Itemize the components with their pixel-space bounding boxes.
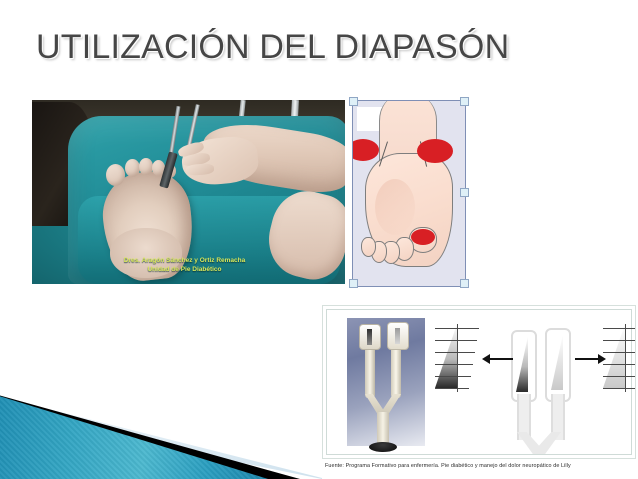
tuning-fork-figure[interactable]	[322, 305, 636, 459]
foot-map-marker-lateral-malleolus	[417, 139, 453, 163]
fork-weight-left	[359, 324, 381, 350]
schematic-prong-left	[511, 330, 537, 402]
slide: UTILIZACIÓN DEL DIAPASÓN Dres. Aragón Sá…	[0, 0, 638, 479]
fork-scale-tick-right	[395, 328, 400, 344]
decoration-pale-band	[0, 381, 322, 479]
callout-right-axis	[625, 324, 626, 392]
callout-right	[601, 320, 636, 396]
photo-credit-line-2: Unidad de Pie Diabético	[32, 266, 337, 275]
callout-left-axis	[457, 324, 458, 392]
fork-base	[369, 442, 397, 452]
photo-credit: Dres. Aragón Sánchez y Ortiz Remacha Uni…	[32, 257, 337, 274]
callout-left-arrow-icon	[489, 358, 513, 360]
callout-left	[433, 320, 485, 396]
selection-handle-bottom-right[interactable]	[460, 279, 469, 288]
photo-toe-1	[106, 164, 125, 186]
tuning-fork-schematic	[433, 314, 627, 450]
foot-map-shading	[375, 179, 415, 235]
fork-scale-tick-left	[367, 329, 372, 345]
photo-toe-2	[125, 159, 140, 177]
foot-map-marker-hallux	[411, 229, 435, 245]
callout-right-rule-3	[603, 352, 636, 353]
callout-right-rule-4	[603, 364, 636, 365]
foot-map-canvas	[353, 101, 465, 286]
callout-right-rule-6	[603, 388, 636, 389]
callout-right-rule-2	[603, 340, 636, 341]
selection-handle-bottom-left[interactable]	[349, 279, 358, 288]
callout-right-rule-1	[603, 328, 636, 329]
callout-right-rule-5	[603, 376, 636, 377]
callout-left-rule-4	[435, 364, 473, 365]
page-title: UTILIZACIÓN DEL DIAPASÓN	[36, 28, 509, 67]
callout-left-rule-5	[435, 376, 471, 377]
decoration-blue-wedge	[0, 387, 268, 479]
callout-left-rule-3	[435, 352, 475, 353]
clinical-photo[interactable]: Dres. Aragón Sánchez y Ortiz Remacha Uni…	[32, 100, 345, 284]
photo-credit-line-1: Dres. Aragón Sánchez y Ortiz Remacha	[32, 257, 337, 266]
foot-map-image[interactable]	[352, 100, 466, 287]
fork-handle	[377, 412, 389, 446]
schematic-scale-right	[551, 334, 563, 390]
decoration-black-stripe	[0, 383, 300, 479]
fork-weight-right	[387, 322, 409, 350]
callout-right-arrow-icon	[575, 358, 599, 360]
callout-left-gradient	[435, 324, 457, 388]
selection-handle-middle-right[interactable]	[460, 188, 469, 197]
selection-handle-top-right[interactable]	[460, 97, 469, 106]
foot-map-toe-5	[361, 237, 376, 257]
schematic-prong-right	[545, 328, 571, 402]
source-caption: Fuente: Programa Formativo para enfermer…	[325, 463, 571, 469]
foot-map-marker-medial-malleolus	[353, 139, 379, 161]
schematic-scale-left	[516, 336, 528, 392]
callout-right-gradient	[603, 324, 625, 388]
callout-left-rule-2	[435, 340, 477, 341]
tuning-fork-photo	[347, 318, 425, 446]
photo-toe-3	[139, 158, 153, 175]
corner-decoration	[0, 381, 330, 479]
selection-handle-top-left[interactable]	[349, 97, 358, 106]
callout-left-rule-6	[435, 388, 469, 389]
